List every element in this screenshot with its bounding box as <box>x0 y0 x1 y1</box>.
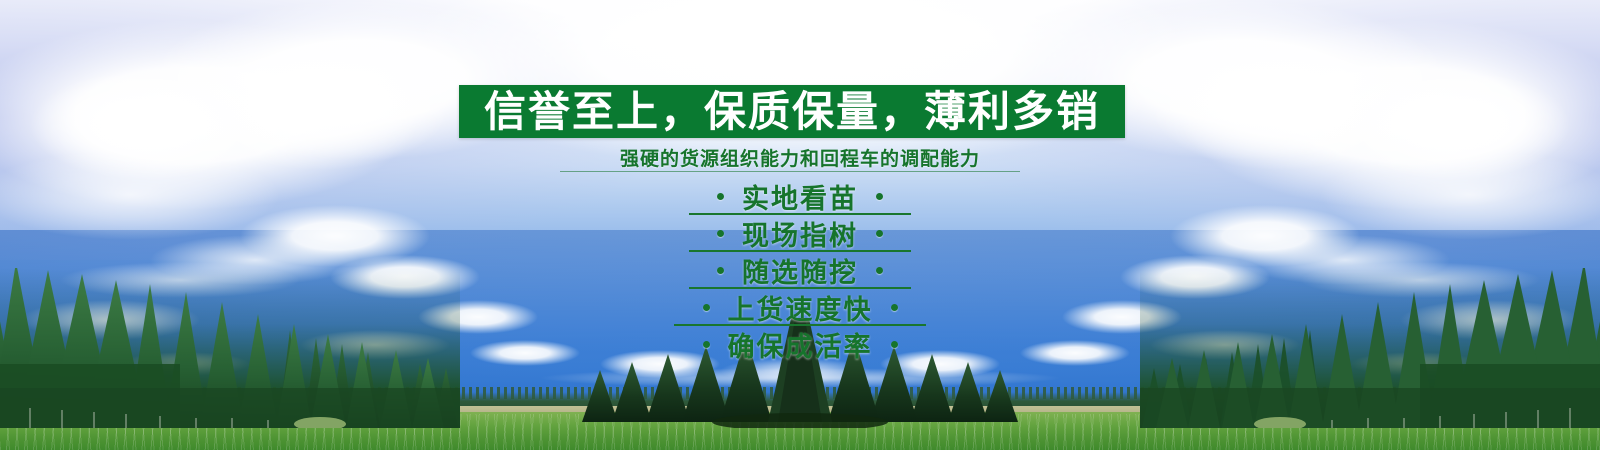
bullet-dot-icon <box>891 304 898 311</box>
feature-label: 现场指树 <box>742 214 858 253</box>
feature-item-4: 上货速度快 <box>0 289 1600 326</box>
bullet-dot-icon <box>876 267 883 274</box>
bullet-dot-icon <box>876 230 883 237</box>
bullet-dot-icon <box>876 193 883 200</box>
feature-item-2: 现场指树 <box>0 215 1600 252</box>
page-title: 信誉至上，保质保量，薄利多销 <box>459 85 1125 138</box>
feature-item-1: 实地看苗 <box>0 178 1600 215</box>
subtitle: 强硬的货源组织能力和回程车的调配能力 <box>0 144 1600 171</box>
feature-label: 上货速度快 <box>728 288 873 327</box>
feature-list: 实地看苗 现场指树 随选随挖 上货速度快 <box>0 178 1600 363</box>
bullet-dot-icon <box>703 304 710 311</box>
subtitle-underline <box>560 171 1020 172</box>
feature-label: 随选随挖 <box>742 251 858 290</box>
bullet-dot-icon <box>717 193 724 200</box>
feature-item-5: 确保成活率 <box>0 326 1600 363</box>
bullet-dot-icon <box>703 341 710 348</box>
banner-content: 信誉至上，保质保量，薄利多销 强硬的货源组织能力和回程车的调配能力 实地看苗 现… <box>0 0 1600 450</box>
bullet-dot-icon <box>717 230 724 237</box>
bullet-dot-icon <box>891 341 898 348</box>
feature-label: 实地看苗 <box>742 177 858 216</box>
bullet-dot-icon <box>717 267 724 274</box>
feature-item-3: 随选随挖 <box>0 252 1600 289</box>
promo-banner: 信誉至上，保质保量，薄利多销 强硬的货源组织能力和回程车的调配能力 实地看苗 现… <box>0 0 1600 450</box>
feature-label: 确保成活率 <box>728 325 873 364</box>
